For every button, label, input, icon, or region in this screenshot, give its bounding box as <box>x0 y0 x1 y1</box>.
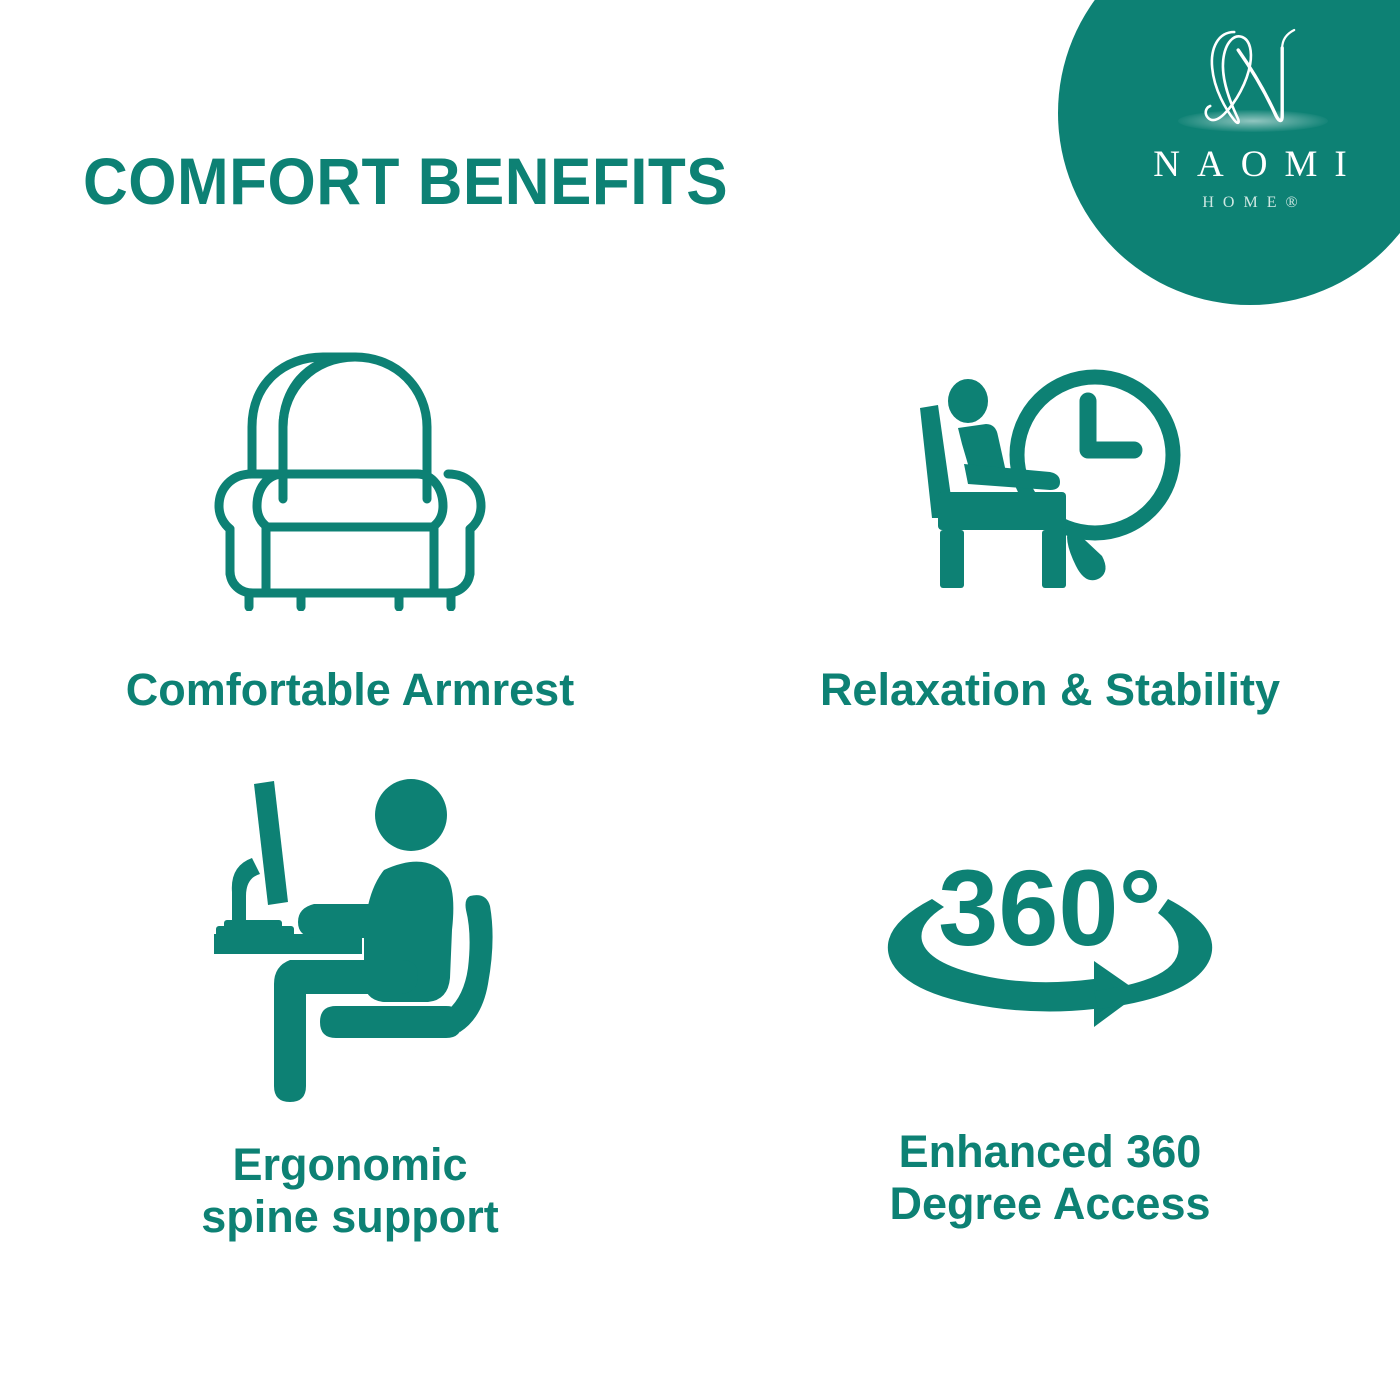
feature-label: Enhanced 360 Degree Access <box>889 1126 1210 1230</box>
feature-label: Ergonomic spine support <box>201 1139 499 1243</box>
script-n-monogram-icon <box>1190 24 1320 132</box>
feature-label: Relaxation & Stability <box>820 664 1280 716</box>
brand-subtitle: HOME® <box>1193 195 1306 211</box>
armchair-icon <box>205 330 495 630</box>
brand-logo-badge: NAOMI HOME® <box>1058 0 1400 305</box>
feature-ergonomic-spine-support: Ergonomic spine support <box>0 770 700 1230</box>
360-degree-rotation-icon: 360° <box>872 770 1228 1102</box>
page-title: COMFORT BENEFITS <box>83 148 728 214</box>
feature-relaxation-stability: Relaxation & Stability <box>700 330 1400 770</box>
brand-monogram-wrap <box>1150 24 1350 144</box>
feature-enhanced-360-degree-access: 360° Enhanced 360 Degree Access <box>700 770 1400 1230</box>
360-degree-text: 360° <box>938 847 1161 968</box>
brand-logo-content: NAOMI HOME® <box>1058 0 1400 305</box>
feature-label: Comfortable Armrest <box>126 664 574 716</box>
comfort-benefits-infographic: NAOMI HOME® COMFORT BENEFITS <box>0 0 1400 1400</box>
feature-comfortable-armrest: Comfortable Armrest <box>0 330 700 770</box>
person-seated-clock-icon <box>910 330 1190 630</box>
brand-name: NAOMI <box>1136 146 1363 183</box>
person-at-desk-ergonomic-chair-icon <box>202 770 498 1115</box>
feature-grid: Comfortable Armrest <box>0 330 1400 1230</box>
